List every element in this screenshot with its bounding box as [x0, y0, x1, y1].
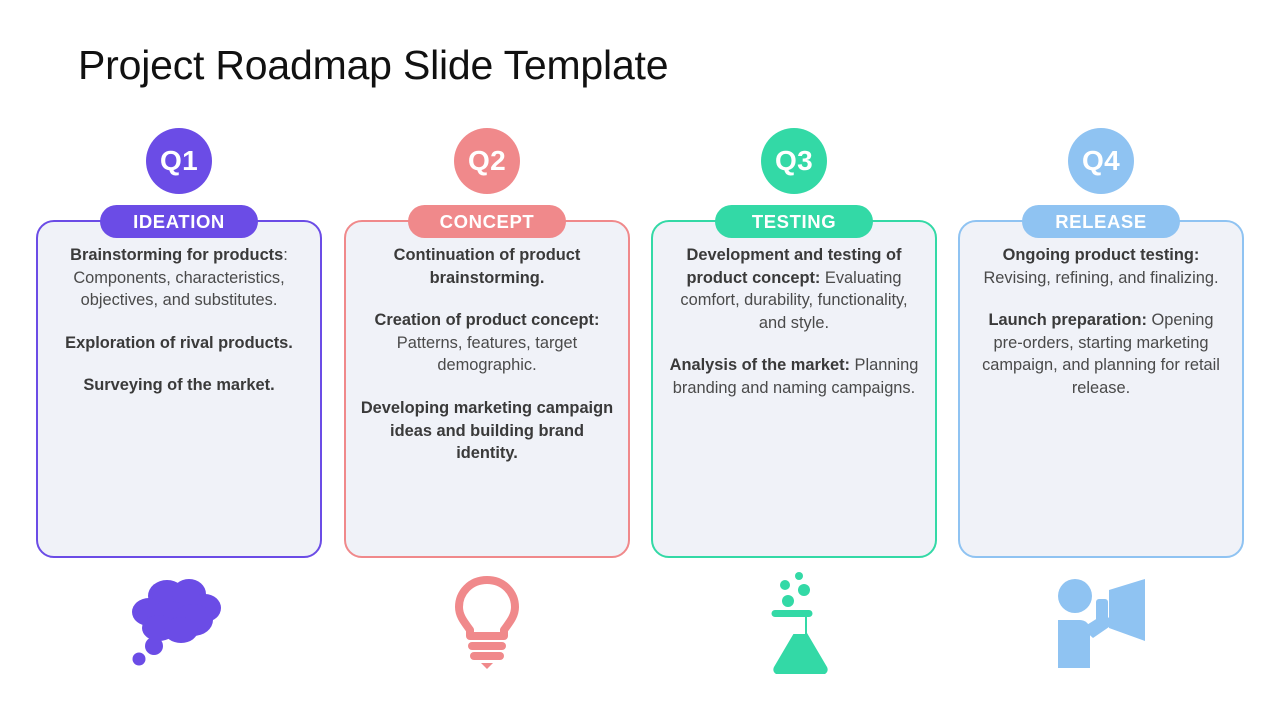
phase-columns: Q1 IDEATION Brainstorming for products: … — [0, 120, 1280, 690]
phase-card-body-q3: Development and testing of product conce… — [667, 244, 921, 400]
phase-pill-ideation[interactable]: IDEATION — [100, 205, 258, 238]
phase-pill-label: IDEATION — [133, 211, 225, 233]
quarter-badge-q2[interactable]: Q2 — [454, 128, 520, 194]
quarter-badge-q3[interactable]: Q3 — [761, 128, 827, 194]
quarter-label: Q4 — [1082, 147, 1120, 175]
phase-column-q3: Q3 TESTING Development and testing of pr… — [651, 120, 937, 680]
quarter-badge-q4[interactable]: Q4 — [1068, 128, 1134, 194]
phase-pill-label: TESTING — [752, 211, 836, 233]
phase-text-block: Continuation of product brainstorming. — [360, 244, 614, 289]
quarter-label: Q2 — [468, 147, 506, 175]
phase-card-body-q1: Brainstorming for products: Components, … — [52, 244, 306, 397]
phase-pill-testing[interactable]: TESTING — [715, 205, 873, 238]
phase-card-q2: Continuation of product brainstorming.Cr… — [344, 220, 630, 558]
phase-text-block: Creation of product concept: Patterns, f… — [360, 309, 614, 377]
phase-text-block: Exploration of rival products. — [52, 332, 306, 355]
phase-pill-label: RELEASE — [1055, 211, 1147, 233]
roadmap-slide: Project Roadmap Slide Template Q1 IDEATI… — [0, 0, 1280, 720]
phase-text-block: Analysis of the market: Planning brandin… — [667, 354, 921, 399]
phase-text-block: Ongoing product testing: Revising, refin… — [974, 244, 1228, 289]
phase-card-body-q2: Continuation of product brainstorming.Cr… — [360, 244, 614, 465]
phase-text-block: Developing marketing campaign ideas and … — [360, 397, 614, 465]
quarter-label: Q3 — [775, 147, 813, 175]
phase-card-body-q4: Ongoing product testing: Revising, refin… — [974, 244, 1228, 400]
page-title: Project Roadmap Slide Template — [78, 42, 668, 89]
thought-cloud-icon — [124, 570, 234, 674]
phase-pill-release[interactable]: RELEASE — [1022, 205, 1180, 238]
phase-text-block: Launch preparation: Opening pre-orders, … — [974, 309, 1228, 399]
phase-card-q3: Development and testing of product conce… — [651, 220, 937, 558]
phase-text-block: Surveying of the market. — [52, 374, 306, 397]
quarter-label: Q1 — [160, 147, 198, 175]
phase-card-q1: Brainstorming for products: Components, … — [36, 220, 322, 558]
phase-column-q4: Q4 RELEASE Ongoing product testing: Revi… — [958, 120, 1244, 680]
phase-column-q1: Q1 IDEATION Brainstorming for products: … — [36, 120, 322, 680]
phase-pill-concept[interactable]: CONCEPT — [408, 205, 566, 238]
megaphone-person-icon — [1046, 570, 1156, 674]
phase-pill-label: CONCEPT — [440, 211, 535, 233]
lightbulb-icon — [432, 570, 542, 674]
phase-column-q2: Q2 CONCEPT Continuation of product brain… — [344, 120, 630, 680]
quarter-badge-q1[interactable]: Q1 — [146, 128, 212, 194]
phase-text-block: Development and testing of product conce… — [667, 244, 921, 334]
flask-icon — [739, 570, 849, 674]
phase-text-block: Brainstorming for products: Components, … — [52, 244, 306, 312]
phase-card-q4: Ongoing product testing: Revising, refin… — [958, 220, 1244, 558]
